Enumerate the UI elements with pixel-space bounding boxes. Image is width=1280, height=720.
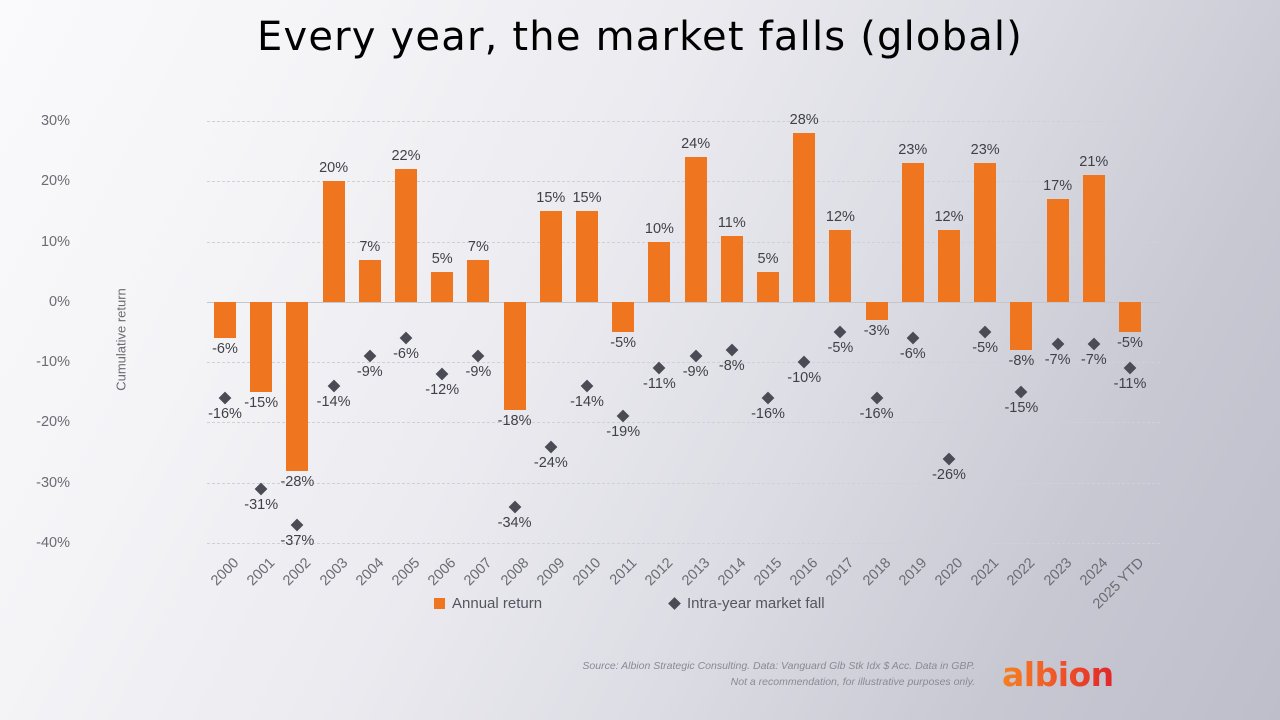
legend-label-annual-return: Annual return xyxy=(452,595,542,612)
marker-value-label: -10% xyxy=(774,370,834,386)
bar-value-label: -3% xyxy=(847,323,907,339)
diamond-marker[interactable] xyxy=(979,326,992,339)
y-axis-tick-label: 20% xyxy=(10,173,70,189)
diamond-marker[interactable] xyxy=(1015,386,1028,399)
y-axis-tick-label: 30% xyxy=(10,113,70,129)
bar-value-label: -6% xyxy=(195,341,255,357)
source-note-line-1: Source: Albion Strategic Consulting. Dat… xyxy=(582,658,975,674)
bar[interactable] xyxy=(721,236,743,302)
y-axis-tick-label: -20% xyxy=(10,414,70,430)
marker-value-label: -9% xyxy=(448,364,508,380)
diamond-marker[interactable] xyxy=(581,380,594,393)
diamond-marker[interactable] xyxy=(363,350,376,363)
bar[interactable] xyxy=(286,302,308,471)
bar[interactable] xyxy=(1119,302,1141,332)
y-axis-tick-label: 0% xyxy=(10,294,70,310)
legend-label-intra-year-fall: Intra-year market fall xyxy=(687,595,825,612)
marker-value-label: -26% xyxy=(919,467,979,483)
albion-logo: albion xyxy=(1002,655,1114,694)
bar-value-label: 11% xyxy=(702,215,762,231)
diamond-marker[interactable] xyxy=(291,519,304,532)
gridline xyxy=(207,422,1160,423)
bar[interactable] xyxy=(431,272,453,302)
source-note-line-2: Not a recommendation, for illustrative p… xyxy=(582,674,975,690)
bar-value-label: -5% xyxy=(1100,335,1160,351)
legend-item-annual-return[interactable]: Annual return xyxy=(434,595,542,612)
bar[interactable] xyxy=(648,242,670,302)
bar-value-label: -18% xyxy=(485,413,545,429)
y-axis-tick-label: -10% xyxy=(10,354,70,370)
bar-value-label: 23% xyxy=(883,142,943,158)
y-axis-tick-label: -40% xyxy=(10,535,70,551)
bar[interactable] xyxy=(540,211,562,301)
diamond-marker[interactable] xyxy=(436,368,449,381)
marker-value-label: -16% xyxy=(738,406,798,422)
marker-value-label: -14% xyxy=(304,394,364,410)
diamond-marker[interactable] xyxy=(544,440,557,453)
bar[interactable] xyxy=(829,230,851,302)
bar-value-label: 24% xyxy=(666,136,726,152)
bar[interactable] xyxy=(504,302,526,411)
bar[interactable] xyxy=(467,260,489,302)
bar[interactable] xyxy=(938,230,960,302)
marker-value-label: -5% xyxy=(810,340,870,356)
diamond-marker[interactable] xyxy=(834,326,847,339)
bar-value-label: -28% xyxy=(267,474,327,490)
source-note: Source: Albion Strategic Consulting. Dat… xyxy=(582,658,975,691)
bar[interactable] xyxy=(902,163,924,302)
gridline xyxy=(207,543,1160,544)
diamond-marker[interactable] xyxy=(653,362,666,375)
chart-plot-area: 30%20%10%0%-10%-20%-30%-40% -6%-15%-28%2… xyxy=(207,121,1160,543)
marker-value-label: -6% xyxy=(883,346,943,362)
diamond-marker[interactable] xyxy=(943,452,956,465)
marker-value-label: -31% xyxy=(231,497,291,513)
diamond-marker[interactable] xyxy=(219,392,232,405)
bar[interactable] xyxy=(974,163,996,302)
gridline xyxy=(207,483,1160,484)
diamond-marker[interactable] xyxy=(689,350,702,363)
marker-value-label: -16% xyxy=(195,406,255,422)
marker-value-label: -7% xyxy=(1064,352,1124,368)
legend-item-intra-year-fall[interactable]: Intra-year market fall xyxy=(669,595,825,612)
diamond-marker[interactable] xyxy=(1124,362,1137,375)
marker-value-label: -19% xyxy=(593,424,653,440)
diamond-marker[interactable] xyxy=(508,500,521,513)
page-title: Every year, the market falls (global) xyxy=(0,14,1280,60)
diamond-marker[interactable] xyxy=(327,380,340,393)
gridline xyxy=(207,181,1160,182)
marker-value-label: -24% xyxy=(521,455,581,471)
bar[interactable] xyxy=(1083,175,1105,302)
bar[interactable] xyxy=(359,260,381,302)
marker-value-label: -16% xyxy=(847,406,907,422)
y-axis-tick-label: -30% xyxy=(10,475,70,491)
diamond-marker[interactable] xyxy=(762,392,775,405)
marker-value-label: -5% xyxy=(955,340,1015,356)
diamond-marker[interactable] xyxy=(906,332,919,345)
diamond-marker[interactable] xyxy=(1051,338,1064,351)
marker-value-label: -12% xyxy=(412,382,472,398)
bar-value-label: 23% xyxy=(955,142,1015,158)
bar[interactable] xyxy=(1047,199,1069,301)
bar[interactable] xyxy=(214,302,236,338)
bar[interactable] xyxy=(757,272,779,302)
bar-value-label: 5% xyxy=(738,251,798,267)
bar-value-label: 12% xyxy=(810,209,870,225)
y-axis-title: Cumulative return xyxy=(114,288,129,391)
bar[interactable] xyxy=(866,302,888,320)
diamond-marker[interactable] xyxy=(725,344,738,357)
diamond-marker[interactable] xyxy=(255,482,268,495)
marker-value-label: -37% xyxy=(267,533,327,549)
y-axis-tick-label: 10% xyxy=(10,234,70,250)
bar-value-label: 17% xyxy=(1028,178,1088,194)
marker-value-label: -8% xyxy=(702,358,762,374)
diamond-marker[interactable] xyxy=(870,392,883,405)
bar-value-label: 20% xyxy=(304,160,364,176)
legend-diamond-icon xyxy=(668,597,681,610)
marker-value-label: -6% xyxy=(376,346,436,362)
bar-value-label: 28% xyxy=(774,112,834,128)
diamond-marker[interactable] xyxy=(798,356,811,369)
legend-square-icon xyxy=(434,598,445,609)
diamond-marker[interactable] xyxy=(617,410,630,423)
bar[interactable] xyxy=(576,211,598,301)
bar[interactable] xyxy=(395,169,417,302)
bar-value-label: 21% xyxy=(1064,154,1124,170)
bar-value-label: 7% xyxy=(448,239,508,255)
diamond-marker[interactable] xyxy=(1087,338,1100,351)
bar-value-label: 22% xyxy=(376,148,436,164)
diamond-marker[interactable] xyxy=(472,350,485,363)
marker-value-label: -15% xyxy=(991,400,1051,416)
bar[interactable] xyxy=(612,302,634,332)
bar-value-label: 15% xyxy=(557,190,617,206)
marker-value-label: -14% xyxy=(557,394,617,410)
marker-value-label: -9% xyxy=(340,364,400,380)
bar-value-label: 10% xyxy=(629,221,689,237)
diamond-marker[interactable] xyxy=(400,332,413,345)
marker-value-label: -34% xyxy=(485,515,545,531)
marker-value-label: -11% xyxy=(1100,376,1160,392)
gridline xyxy=(207,121,1160,122)
bar-value-label: 12% xyxy=(919,209,979,225)
bar[interactable] xyxy=(250,302,272,392)
bar-value-label: 7% xyxy=(340,239,400,255)
chart-legend: Annual return Intra-year market fall xyxy=(420,595,880,617)
bar-value-label: -5% xyxy=(593,335,653,351)
